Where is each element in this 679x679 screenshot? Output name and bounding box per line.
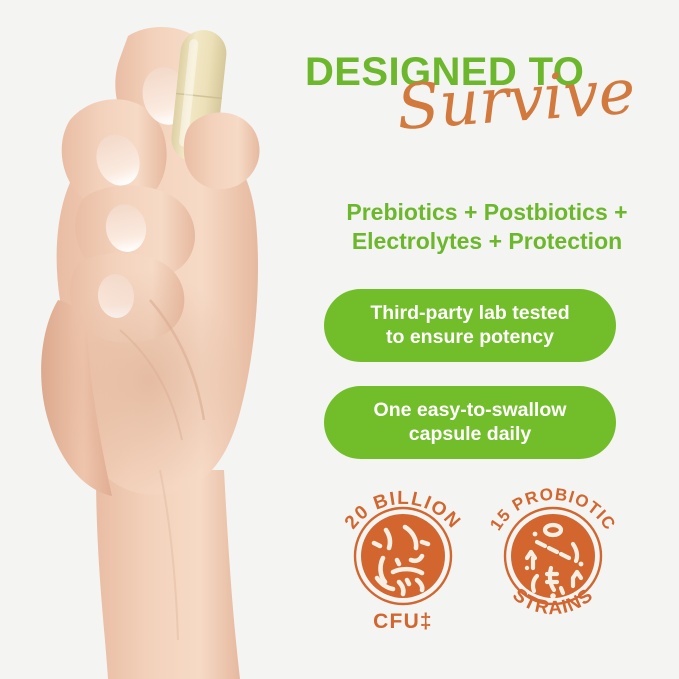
subheadline-line-2: Electrolytes + Protection [295,227,679,256]
seal-cfu: 20 BILLION CFU‡ [327,480,479,632]
subheadline: Prebiotics + Postbiotics + Electrolytes … [295,198,679,256]
seal-strains: 15 PROBIOTIC STRAINS [477,480,629,632]
seal-bottom-text: CFU‡ [373,610,433,632]
subheadline-line-1: Prebiotics + Postbiotics + [295,198,679,227]
headline: DESIGNED TO Survive [295,52,679,177]
content-column: DESIGNED TO Survive Prebiotics + Postbio… [295,0,679,679]
forearm-shape [96,470,240,679]
benefit-badge-2-line-2: capsule daily [374,423,567,447]
hand-holding-capsule-photo [0,0,300,679]
benefit-badge-1-line-1: Third-party lab tested [370,302,569,326]
seal-group: 20 BILLION CFU‡ [295,478,679,638]
headline-script-text: Survive [395,60,637,138]
marketing-image: DESIGNED TO Survive Prebiotics + Postbio… [0,0,679,679]
benefit-badge-easy-to-swallow: One easy-to-swallow capsule daily [324,386,616,459]
benefit-badge-1-line-2: to ensure potency [370,326,569,350]
benefit-badge-lab-tested: Third-party lab tested to ensure potency [324,289,616,362]
benefit-badge-2-line-1: One easy-to-swallow [374,399,567,423]
